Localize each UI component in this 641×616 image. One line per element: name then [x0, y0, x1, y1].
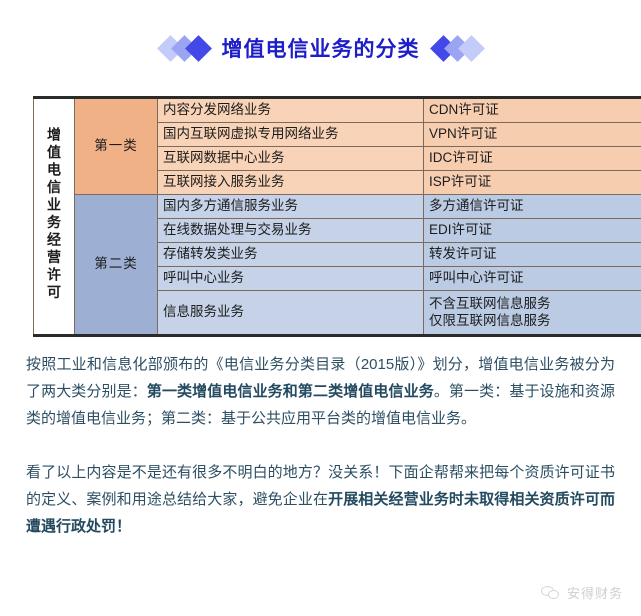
classification-table: 增值电信业务经营许可 第一类 内容分发网络业务 CDN许可证 国内互联网虚拟专用… [33, 96, 641, 337]
license-line-1: 不含互联网信息服务 [429, 296, 641, 313]
vertical-header-cell: 增值电信业务经营许可 [34, 98, 75, 336]
body-content: 按照工业和信息化部颁布的《电信业务分类目录（2015版）》划分，增值电信业务被分… [26, 351, 615, 540]
table-row: 第二类 国内多方通信服务业务 多方通信许可证 [34, 195, 641, 219]
business-name-cell: 呼叫中心业务 [158, 267, 424, 291]
license-name-cell: CDN许可证 [424, 98, 641, 123]
license-line-2: 仅限互联网信息服务 [429, 313, 641, 330]
page-header: 增值电信业务的分类 [0, 0, 641, 96]
paragraph-two: 看了以上内容是不是还有很多不明白的地方？没关系！下面企帮帮来把每个资质许可证书的… [26, 459, 615, 540]
license-name-cell: 转发许可证 [424, 243, 641, 267]
business-name-cell: 国内多方通信服务业务 [158, 195, 424, 219]
license-name-cell: VPN许可证 [424, 123, 641, 147]
license-name-cell: 不含互联网信息服务 仅限互联网信息服务 [424, 291, 641, 336]
page-title: 增值电信业务的分类 [222, 33, 420, 63]
license-name-cell: ISP许可证 [424, 171, 641, 195]
footer-watermark: 安得财务 [541, 583, 623, 602]
business-name-cell: 国内互联网虚拟专用网络业务 [158, 123, 424, 147]
paragraph-one: 按照工业和信息化部颁布的《电信业务分类目录（2015版）》划分，增值电信业务被分… [26, 351, 615, 432]
paragraph-one-emphasis: 第一类增值电信业务和第二类增值电信业务 [147, 383, 434, 400]
business-name-cell: 存储转发类业务 [158, 243, 424, 267]
business-name-cell: 在线数据处理与交易业务 [158, 219, 424, 243]
business-name-cell: 内容分发网络业务 [158, 98, 424, 123]
table-row: 增值电信业务经营许可 第一类 内容分发网络业务 CDN许可证 [34, 98, 641, 123]
left-diamond-decoration [161, 39, 208, 58]
business-name-cell: 互联网数据中心业务 [158, 147, 424, 171]
license-name-cell: EDI许可证 [424, 219, 641, 243]
business-name-cell: 互联网接入服务业务 [158, 171, 424, 195]
license-name-cell: 呼叫中心许可证 [424, 267, 641, 291]
category-two-label-cell: 第二类 [75, 195, 158, 336]
wechat-icon [541, 585, 560, 601]
watermark-label: 安得财务 [567, 583, 623, 602]
category-one-label-cell: 第一类 [75, 98, 158, 195]
right-diamond-decoration [434, 39, 481, 58]
wechat-bubble-small [548, 590, 559, 599]
business-name-cell: 信息服务业务 [158, 291, 424, 336]
vertical-header-label: 增值电信业务经营许可 [47, 98, 61, 331]
license-name-cell: 多方通信许可证 [424, 195, 641, 219]
license-name-cell: IDC许可证 [424, 147, 641, 171]
classification-table-wrapper: 增值电信业务经营许可 第一类 内容分发网络业务 CDN许可证 国内互联网虚拟专用… [33, 96, 613, 337]
